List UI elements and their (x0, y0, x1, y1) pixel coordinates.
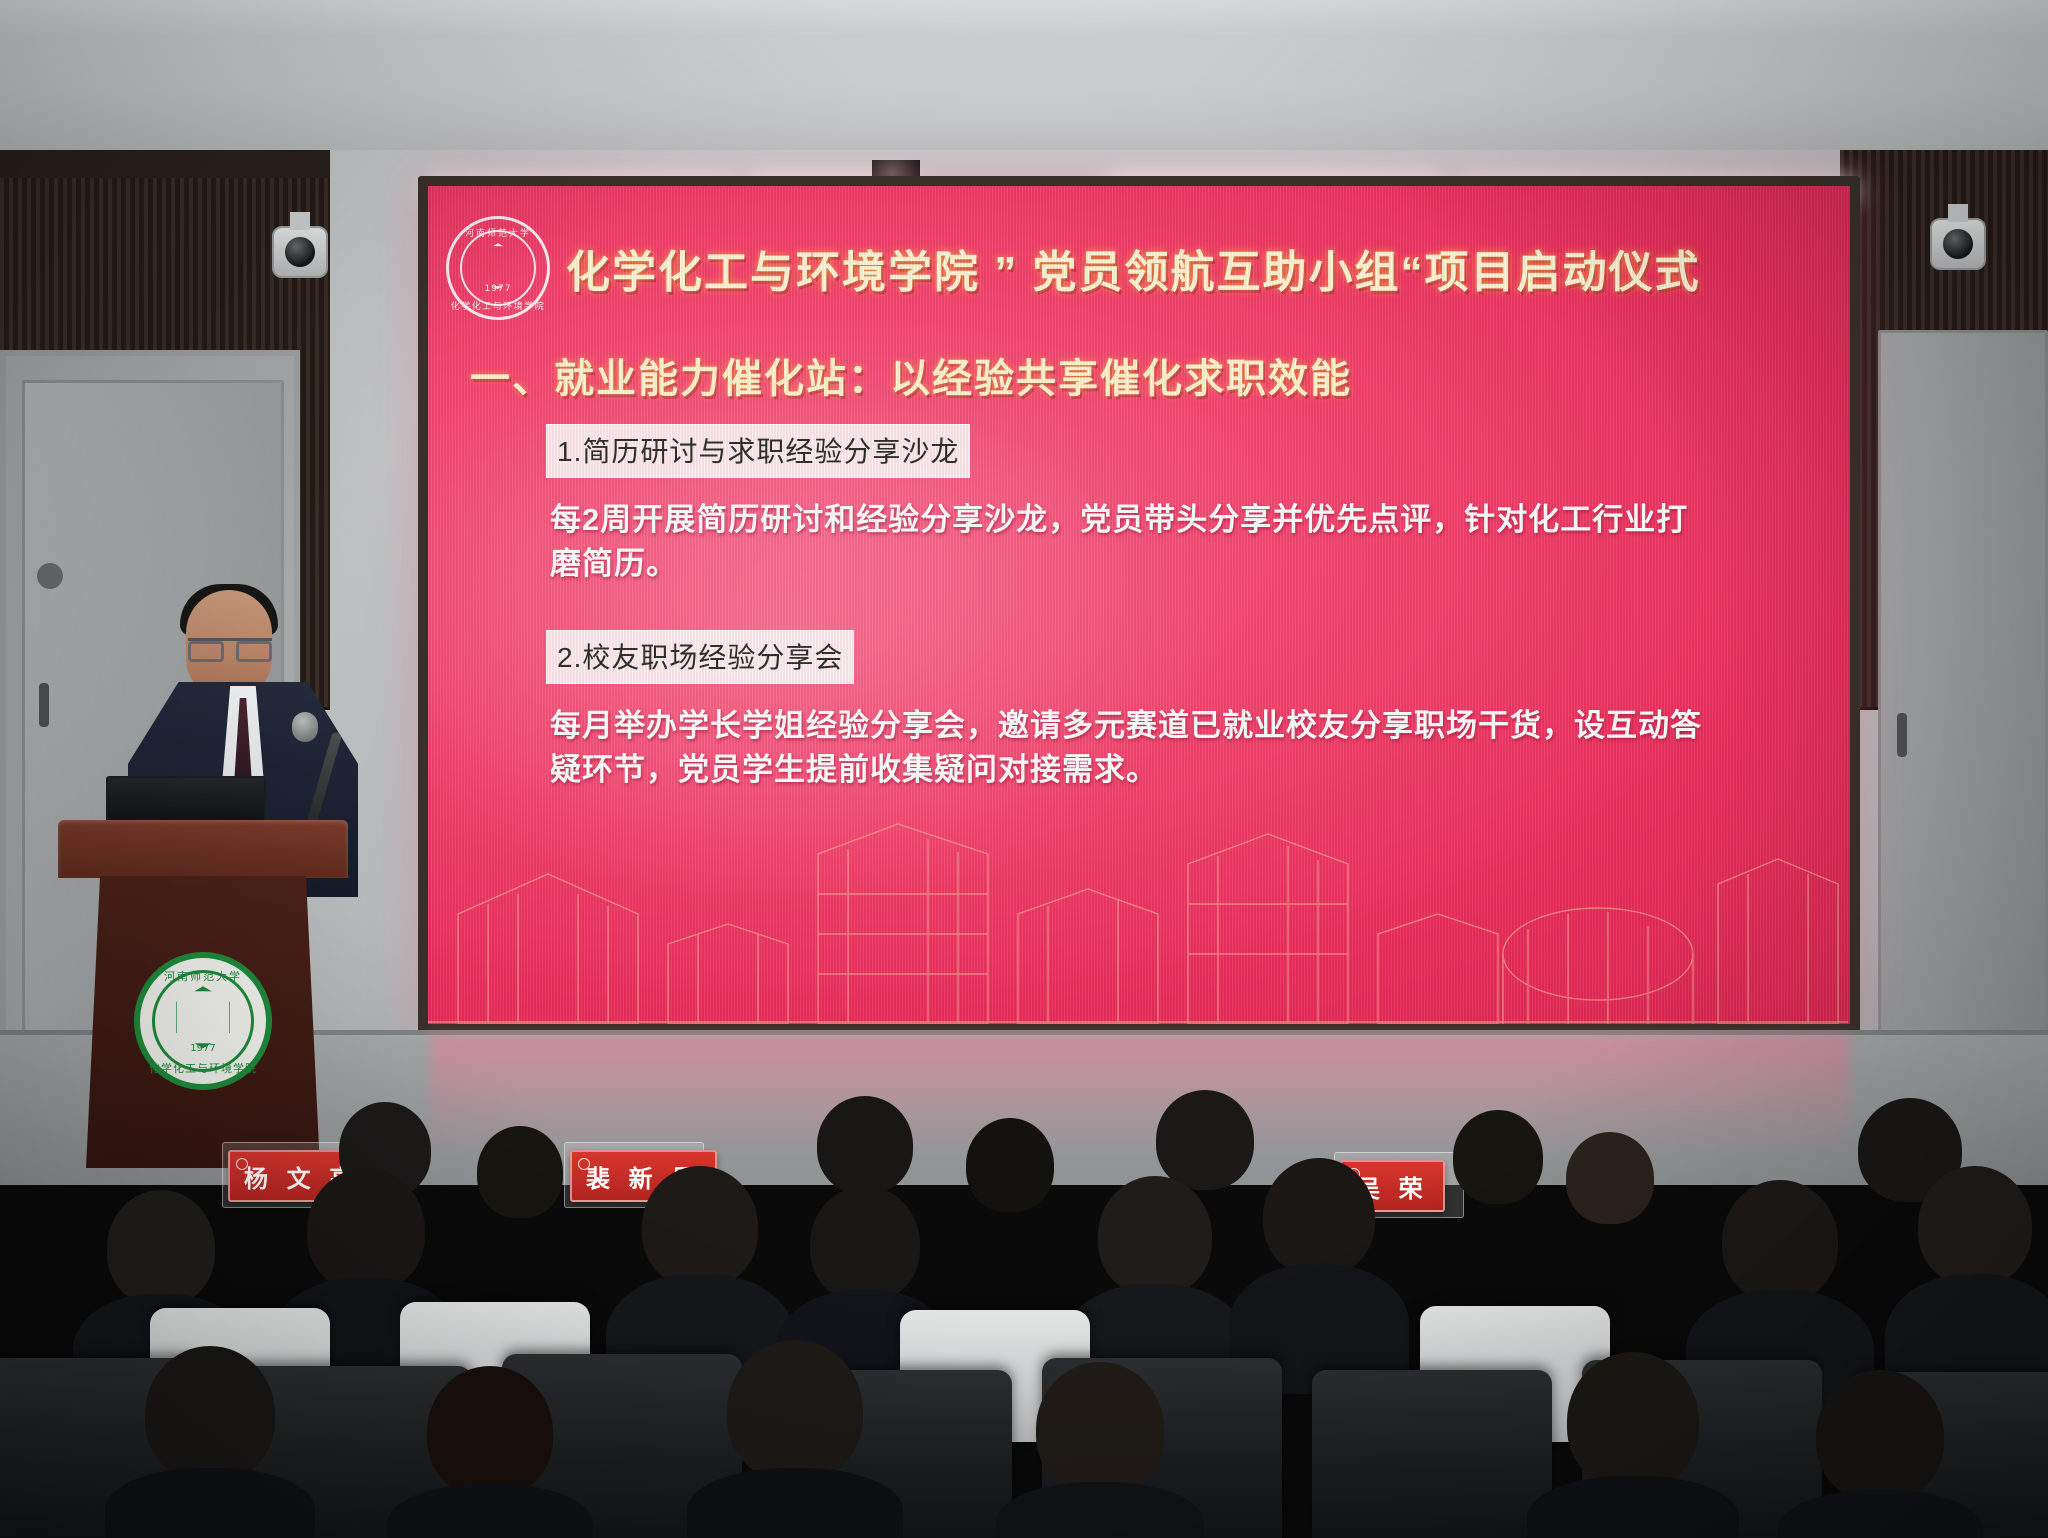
audience-person (700, 1340, 890, 1538)
audience-person (1448, 1110, 1548, 1220)
person-head (1566, 1132, 1654, 1224)
glasses-icon (188, 638, 272, 654)
person-head (810, 1186, 920, 1302)
person-shoulders (687, 1468, 903, 1538)
audience-person (1790, 1370, 1970, 1538)
chair[interactable] (1312, 1370, 1552, 1538)
door-right[interactable] (1878, 330, 2048, 1090)
ceiling-band (0, 0, 2048, 38)
screenshot-root: 河南师范大学 1977 化学化工与环境学院 化学化工与环境学院 ” 党员领航互助… (0, 0, 2048, 1538)
ptz-camera-left (272, 226, 328, 278)
person-shoulders (105, 1468, 315, 1538)
seal-year: 1977 (449, 284, 547, 294)
camera-lens-icon (285, 237, 315, 267)
person-head (966, 1118, 1054, 1212)
person-head (1036, 1362, 1164, 1496)
person-head (1918, 1166, 2032, 1286)
person-head (427, 1366, 553, 1498)
audience-person (1540, 1352, 1725, 1538)
audience-person (120, 1346, 300, 1538)
slide-item-label-2: 2.校友职场经验分享会 (546, 630, 854, 684)
slide-item-label-1: 1.简历研讨与求职经验分享沙龙 (546, 424, 970, 478)
person-head (477, 1126, 563, 1218)
person-shoulders (387, 1484, 593, 1538)
audience-person (1560, 1132, 1660, 1242)
slide-title: 化学化工与环境学院 ” 党员领航互助小组“项目启动仪式 (566, 236, 1700, 300)
audience-person (1010, 1362, 1190, 1538)
wall-slat-header-left (0, 150, 330, 178)
university-seal-icon: 河南师范大学 1977 化学化工与环境学院 (446, 216, 550, 320)
audience-person (470, 1126, 570, 1236)
person-head (1567, 1352, 1699, 1490)
camera-mount-icon (1948, 204, 1968, 222)
door-hinge-icon (37, 563, 63, 589)
person-head (642, 1166, 758, 1288)
microphone-head-icon (292, 712, 318, 742)
person-head (1722, 1180, 1838, 1302)
slide-title-row: 河南师范大学 1977 化学化工与环境学院 化学化工与环境学院 ” 党员领航互助… (446, 212, 1836, 324)
slide-item-body-2: 每月举办学长学姐经验分享会，邀请多元赛道已就业校友分享职场干货，设互动答疑环节，… (550, 704, 1710, 792)
person-head (1098, 1176, 1212, 1296)
person-head (307, 1168, 425, 1292)
person-shoulders (1527, 1476, 1739, 1538)
person-head (1816, 1370, 1944, 1502)
seal-top-text: 河南师范大学 (449, 226, 547, 239)
podium-top-surface (58, 820, 348, 878)
person-head (727, 1340, 863, 1482)
person-head (145, 1346, 275, 1482)
person-head (1263, 1158, 1375, 1276)
podium-seal-top-text: 河南师范大学 (140, 968, 266, 984)
person-head (1156, 1090, 1254, 1190)
person-shoulders (996, 1482, 1204, 1538)
audience-area (0, 1040, 2048, 1538)
slide-item-body-1: 每2周开展简历研讨和经验分享沙龙，党员带头分享并优先点评，针对化工行业打磨简历。 (550, 498, 1710, 586)
presentation-slide: 河南师范大学 1977 化学化工与环境学院 化学化工与环境学院 ” 党员领航互助… (428, 186, 1850, 1024)
camera-lens-icon (1943, 229, 1973, 259)
person-head (817, 1096, 913, 1194)
person-head (107, 1190, 215, 1306)
skyline-decoration (428, 794, 1848, 1024)
audience-person (400, 1366, 580, 1538)
person-head (1453, 1110, 1543, 1204)
slide-canvas: 河南师范大学 1977 化学化工与环境学院 化学化工与环境学院 ” 党员领航互助… (428, 186, 1850, 1024)
door-handle-left[interactable] (39, 683, 49, 727)
slide-section-heading: 一、就业能力催化站：以经验共享催化求职效能 (470, 346, 1352, 404)
person-shoulders (1777, 1490, 1983, 1538)
audience-person (960, 1118, 1060, 1228)
audience-person (1244, 1158, 1394, 1388)
camera-mount-icon (290, 212, 310, 230)
ptz-camera-right (1930, 218, 1986, 270)
seal-bottom-text: 化学化工与环境学院 (449, 299, 547, 312)
led-screen: 河南师范大学 1977 化学化工与环境学院 化学化工与环境学院 ” 党员领航互助… (418, 176, 1860, 1034)
door-handle-right[interactable] (1897, 713, 1907, 757)
